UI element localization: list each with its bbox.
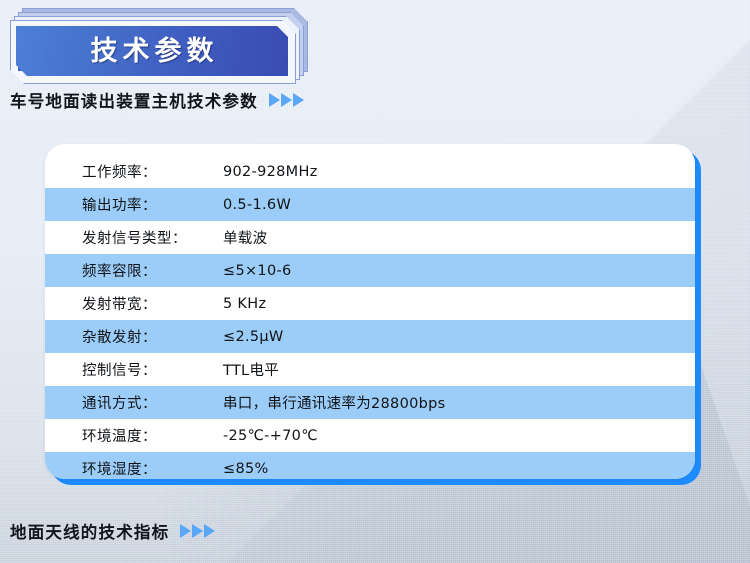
spec-row-value: TTL电平 xyxy=(223,359,279,380)
spec-table-rows: 工作频率：902-928MHz输出功率：0.5-1.6W发射信号类型：单载波频率… xyxy=(45,155,695,479)
spec-row-label: 杂散发射： xyxy=(45,326,223,347)
banner-title-text: 技术参数 xyxy=(86,38,219,65)
spec-row-label: 发射带宽： xyxy=(45,293,223,314)
right-arrow-icon xyxy=(269,93,280,107)
spec-table-row: 频率容限：≤5×10-6 xyxy=(45,254,695,287)
spec-table-row: 输出功率：0.5-1.6W xyxy=(45,188,695,221)
spec-row-value: 单载波 xyxy=(223,227,267,248)
spec-row-value: -25℃-+70℃ xyxy=(223,428,318,444)
spec-row-label: 频率容限： xyxy=(45,260,223,281)
spec-row-value: 902-928MHz xyxy=(223,164,318,180)
triple-right-arrow-icon xyxy=(269,93,304,107)
section-heading-secondary: 地面天线的技术指标 xyxy=(10,519,215,543)
spec-row-label: 发射信号类型： xyxy=(45,227,223,248)
spec-row-value: 0.5-1.6W xyxy=(223,197,291,213)
right-arrow-icon xyxy=(281,93,292,107)
right-arrow-icon xyxy=(180,524,191,538)
spec-row-value: 5 KHz xyxy=(223,296,266,312)
spec-row-value: ≤2.5μW xyxy=(223,329,284,345)
spec-row-label: 工作频率： xyxy=(45,161,223,182)
right-arrow-icon xyxy=(293,93,304,107)
title-banner: 技术参数 xyxy=(8,8,308,80)
section-heading-secondary-text: 地面天线的技术指标 xyxy=(10,519,169,543)
spec-row-label: 环境湿度： xyxy=(45,458,223,479)
spec-table-row: 工作频率：902-928MHz xyxy=(45,155,695,188)
section-heading-primary-text: 车号地面读出装置主机技术参数 xyxy=(10,88,258,112)
spec-row-label: 控制信号： xyxy=(45,359,223,380)
spec-table-row: 杂散发射：≤2.5μW xyxy=(45,320,695,353)
page-canvas: 技术参数 车号地面读出装置主机技术参数 工作频率：902-928MHz输出功率：… xyxy=(0,0,750,563)
right-arrow-icon xyxy=(204,524,215,538)
triple-right-arrow-icon xyxy=(180,524,215,538)
spec-table-row: 环境温度：-25℃-+70℃ xyxy=(45,419,695,452)
spec-row-label: 输出功率： xyxy=(45,194,223,215)
spec-table-row: 发射带宽：5 KHz xyxy=(45,287,695,320)
banner-plate: 技术参数 xyxy=(16,26,288,76)
section-heading-primary: 车号地面读出装置主机技术参数 xyxy=(10,88,304,112)
spec-table-row: 控制信号：TTL电平 xyxy=(45,353,695,386)
spec-row-value: ≤85% xyxy=(223,461,269,477)
spec-row-label: 通讯方式： xyxy=(45,392,223,413)
spec-row-value: 串口，串行通讯速率为28800bps xyxy=(223,392,446,413)
spec-row-label: 环境温度： xyxy=(45,425,223,446)
spec-table-card: 工作频率：902-928MHz输出功率：0.5-1.6W发射信号类型：单载波频率… xyxy=(45,144,695,479)
spec-table-row: 发射信号类型：单载波 xyxy=(45,221,695,254)
spec-row-value: ≤5×10-6 xyxy=(223,263,292,279)
right-arrow-icon xyxy=(192,524,203,538)
spec-table-row: 环境湿度：≤85% xyxy=(45,452,695,479)
spec-table-row: 通讯方式：串口，串行通讯速率为28800bps xyxy=(45,386,695,419)
